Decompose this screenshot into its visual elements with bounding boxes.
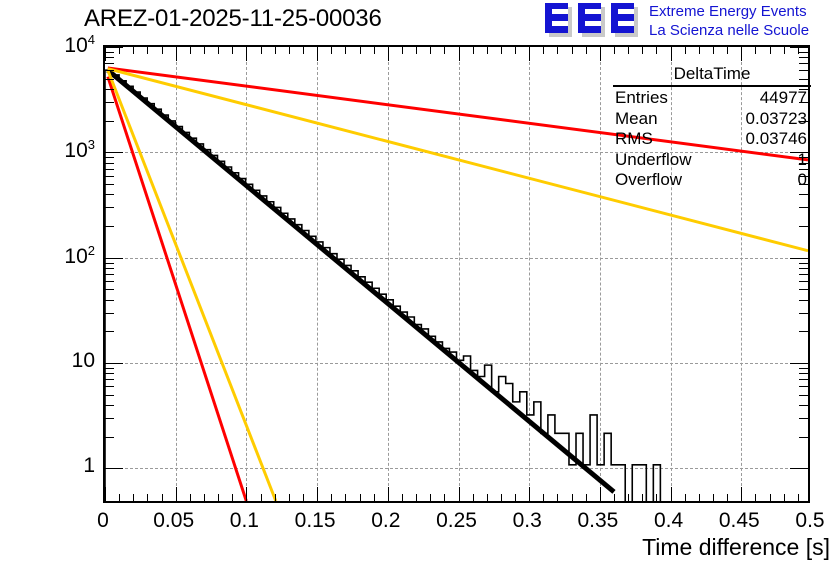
y-minor-tick [105,268,114,269]
x-minor-tick [289,494,290,501]
stats-row: Underflow1 [613,150,811,171]
x-minor-tick-top [614,47,615,54]
y-minor-tick-right [799,300,808,301]
x-minor-tick-top [473,47,474,54]
x-minor-tick [487,494,488,501]
x-minor-tick [261,494,262,501]
stats-key: Underflow [613,150,692,171]
x-minor-tick-top [275,47,276,54]
x-minor-tick-top [699,47,700,54]
y-minor-tick-right [799,405,808,406]
x-minor-tick-top [755,47,756,54]
histogram-steps [105,70,667,501]
y-minor-tick-right [799,418,808,419]
x-minor-tick [430,494,431,501]
x-major-tick-top [388,47,389,61]
x-minor-tick-top [416,47,417,54]
y-major-tick-right [790,468,808,469]
x-tick-label: 0.45 [719,509,760,533]
x-minor-tick [232,494,233,501]
x-major-tick-top [529,47,530,61]
y-minor-tick-right [799,289,808,290]
x-minor-tick-top [557,47,558,54]
x-minor-tick-top [515,47,516,54]
x-tick-label: 0.05 [153,509,194,533]
y-minor-tick [105,437,114,438]
x-minor-tick [345,494,346,501]
stats-value: 0.03746 [746,129,811,150]
stats-row: Entries44977 [613,88,811,109]
y-minor-tick [105,121,114,122]
x-minor-tick [147,494,148,501]
x-major-tick-top [671,47,672,61]
x-minor-tick-top [656,47,657,54]
y-minor-tick [105,176,114,177]
x-minor-tick [713,494,714,501]
y-minor-tick [105,289,114,290]
y-major-tick [105,258,123,259]
stats-key: Mean [613,109,658,130]
y-major-tick [105,363,123,364]
x-minor-tick [162,494,163,501]
x-minor-tick [770,494,771,501]
x-minor-tick [444,494,445,501]
x-minor-tick [586,494,587,501]
y-major-tick-right [790,47,808,48]
stats-key: Entries [613,88,668,109]
x-minor-tick-top [204,47,205,54]
y-minor-tick-right [799,379,808,380]
x-tick-label: 0 [97,509,109,533]
x-minor-tick-top [770,47,771,54]
y-major-tick [105,47,123,48]
y-minor-tick [105,395,114,396]
x-tick-label: 0.35 [577,509,618,533]
x-minor-tick-top [218,47,219,54]
x-minor-tick [218,494,219,501]
y-minor-tick [105,331,114,332]
x-minor-tick [784,494,785,501]
x-minor-tick-top [713,47,714,54]
y-minor-tick-right [799,207,808,208]
y-minor-tick-right [799,331,808,332]
y-minor-tick [105,157,114,158]
x-major-tick [671,487,672,501]
x-minor-tick-top [572,47,573,54]
x-minor-tick-top [261,47,262,54]
x-minor-tick [416,494,417,501]
y-minor-tick [105,300,114,301]
y-minor-tick [105,70,114,71]
stats-value: 1 [798,150,811,171]
y-tick-label: 104 [0,32,95,58]
y-minor-tick [105,274,114,275]
y-minor-tick [105,263,114,264]
y-minor-tick-right [799,226,808,227]
y-minor-tick [105,169,114,170]
y-minor-tick-right [799,268,808,269]
y-major-tick-right [790,258,808,259]
x-minor-tick-top [727,47,728,54]
y-minor-tick [105,163,114,164]
x-minor-tick-top [147,47,148,54]
x-major-tick [105,487,106,501]
y-major-tick [105,152,123,153]
series-reference-line-red-steep [108,77,246,501]
x-major-tick-top [105,47,106,61]
x-minor-tick-top [501,47,502,54]
y-minor-tick-right [799,281,808,282]
x-minor-tick [204,494,205,501]
stats-value: 44977 [760,88,811,109]
x-minor-tick-top [642,47,643,54]
y-minor-tick-right [799,52,808,53]
x-minor-tick [331,494,332,501]
stats-row: RMS0.03746 [613,129,811,150]
x-major-tick [600,487,601,501]
y-minor-tick [105,79,114,80]
x-minor-tick-top [133,47,134,54]
y-minor-tick [105,194,114,195]
y-minor-tick [105,313,114,314]
chart-canvas: AREZ-01-2025-11-25-00036 Extreme Energy … [0,0,836,572]
eee-logo-line1: Extreme Energy Events [649,2,809,21]
y-minor-tick [105,405,114,406]
stats-rows: Entries44977Mean0.03723RMS0.03746Underfl… [613,88,811,191]
x-minor-tick [642,494,643,501]
y-minor-tick [105,52,114,53]
x-minor-tick-top [162,47,163,54]
x-minor-tick [699,494,700,501]
y-minor-tick [105,386,114,387]
y-minor-tick [105,102,114,103]
x-major-tick-top [246,47,247,61]
y-minor-tick-right [799,194,808,195]
x-minor-tick [119,494,120,501]
y-minor-tick-right [799,263,808,264]
x-minor-tick [275,494,276,501]
x-minor-tick [501,494,502,501]
x-minor-tick [755,494,756,501]
stats-value: 0.03723 [746,109,811,130]
x-minor-tick [685,494,686,501]
x-major-tick [388,487,389,501]
x-tick-label: 0.25 [436,509,477,533]
x-minor-tick-top [487,47,488,54]
x-minor-tick-top [289,47,290,54]
y-minor-tick [105,207,114,208]
y-major-tick [105,468,123,469]
x-minor-tick-top [798,47,799,54]
y-minor-tick-right [799,274,808,275]
y-minor-tick [105,89,114,90]
y-minor-tick [105,379,114,380]
x-tick-label: 0.1 [230,509,259,533]
stats-row: Overflow0 [613,170,811,191]
x-minor-tick-top [444,47,445,54]
series-reference-line-yellow-steep [108,70,276,501]
x-minor-tick [303,494,304,501]
x-minor-tick [190,494,191,501]
y-minor-tick [105,418,114,419]
x-tick-label: 0.4 [654,509,683,533]
x-major-tick [529,487,530,501]
x-major-tick [317,487,318,501]
x-major-tick [176,487,177,501]
x-tick-label: 0.2 [371,509,400,533]
x-major-tick-top [459,47,460,61]
x-axis-title: Time difference [s] [642,534,830,561]
y-minor-tick [105,373,114,374]
x-minor-tick-top [685,47,686,54]
x-minor-tick [614,494,615,501]
stats-rule [613,85,811,87]
eee-logo-line2: La Scienza nelle Scuole [649,21,809,40]
x-major-tick [741,487,742,501]
x-minor-tick [133,494,134,501]
y-minor-tick-right [799,368,808,369]
x-minor-tick-top [784,47,785,54]
x-minor-tick [656,494,657,501]
y-major-tick-right [790,363,808,364]
x-minor-tick-top [303,47,304,54]
y-minor-tick [105,63,114,64]
stats-value: 0 [798,170,811,191]
page-title: AREZ-01-2025-11-25-00036 [84,5,382,33]
stats-title: DeltaTime [613,64,811,85]
y-minor-tick [105,226,114,227]
x-minor-tick-top [628,47,629,54]
x-minor-tick-top [232,47,233,54]
x-minor-tick [557,494,558,501]
y-minor-tick-right [799,57,808,58]
y-minor-tick [105,368,114,369]
y-minor-tick-right [799,437,808,438]
x-minor-tick [798,494,799,501]
stats-box: DeltaTime Entries44977Mean0.03723RMS0.03… [613,64,811,191]
y-minor-tick [105,184,114,185]
x-minor-tick [727,494,728,501]
x-major-tick-top [600,47,601,61]
eee-logo-mark [545,3,641,39]
y-axis-title: Entries/bin [0,201,6,310]
x-minor-tick [402,494,403,501]
x-major-tick [246,487,247,501]
x-minor-tick [543,494,544,501]
x-minor-tick [515,494,516,501]
x-minor-tick-top [430,47,431,54]
x-minor-tick-top [331,47,332,54]
x-minor-tick [360,494,361,501]
x-minor-tick-top [345,47,346,54]
y-tick-label: 102 [0,243,95,269]
y-minor-tick-right [799,313,808,314]
x-minor-tick [374,494,375,501]
stats-key: Overflow [613,170,682,191]
x-major-tick [459,487,460,501]
y-minor-tick [105,57,114,58]
eee-logo: Extreme Energy Events La Scienza nelle S… [545,2,835,40]
x-tick-label: 0.15 [295,509,336,533]
stats-key: RMS [613,129,653,150]
x-tick-label: 0.5 [795,509,824,533]
y-minor-tick-right [799,395,808,396]
y-minor-tick [105,281,114,282]
x-minor-tick-top [190,47,191,54]
x-minor-tick-top [360,47,361,54]
eee-logo-text: Extreme Energy Events La Scienza nelle S… [649,2,809,40]
x-minor-tick [628,494,629,501]
y-tick-label: 10 [0,349,95,373]
stats-row: Mean0.03723 [613,109,811,130]
x-minor-tick-top [402,47,403,54]
y-tick-label: 103 [0,137,95,163]
y-tick-label: 1 [0,454,95,478]
x-minor-tick [572,494,573,501]
x-major-tick-top [176,47,177,61]
x-tick-label: 0.3 [513,509,542,533]
x-minor-tick-top [586,47,587,54]
x-minor-tick-top [374,47,375,54]
x-minor-tick-top [543,47,544,54]
y-minor-tick-right [799,386,808,387]
x-minor-tick [473,494,474,501]
x-major-tick-top [741,47,742,61]
x-minor-tick-top [119,47,120,54]
y-minor-tick-right [799,373,808,374]
x-major-tick-top [317,47,318,61]
